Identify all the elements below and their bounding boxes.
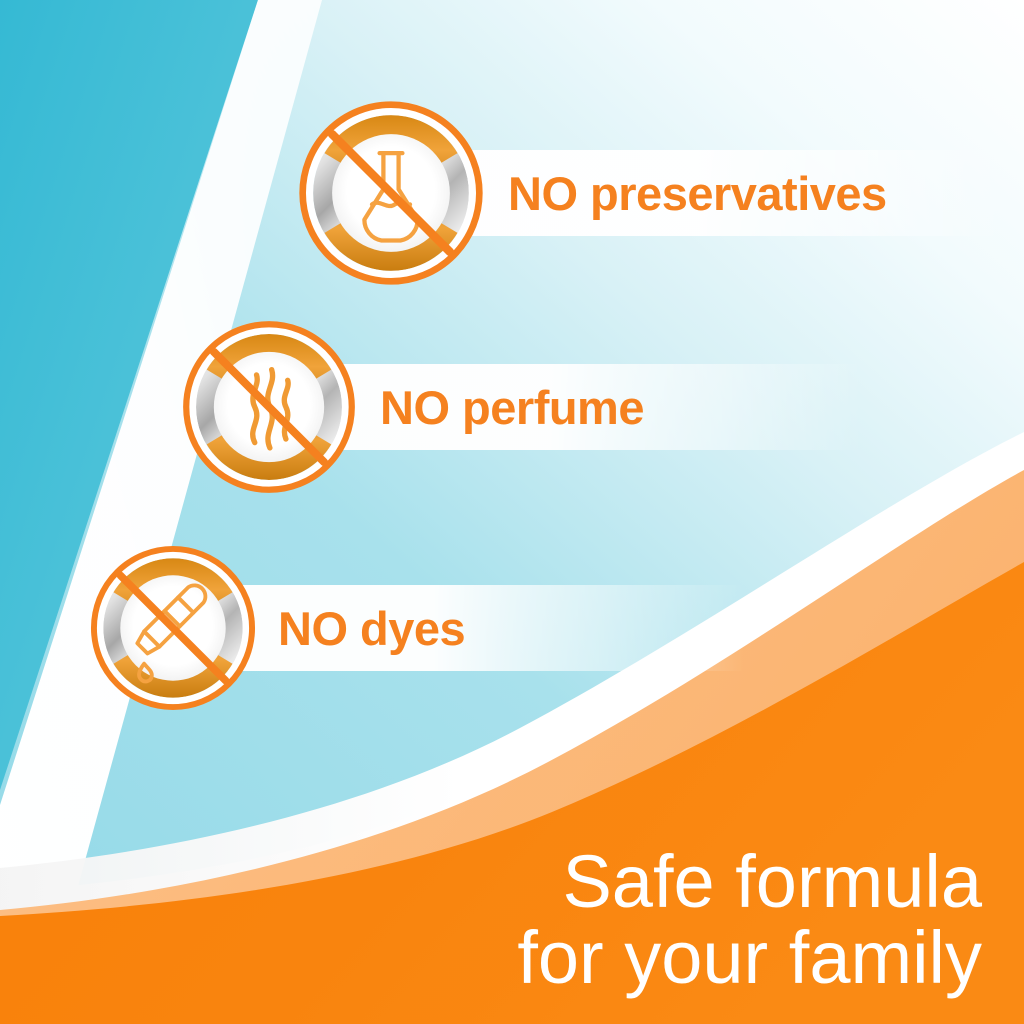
headline: Safe formula for your family (262, 844, 982, 996)
claim-label-preservatives: NO preservatives (508, 170, 887, 217)
claim-row-preservatives: NO preservatives (296, 98, 896, 288)
headline-line-1: Safe formula (262, 844, 982, 920)
no-flask-icon (296, 98, 486, 288)
no-dyes-icon (88, 543, 258, 713)
poster-canvas: NO preservatives (0, 0, 1024, 1024)
no-perfume-icon (180, 318, 358, 496)
claim-label-dyes: NO dyes (278, 605, 465, 652)
claim-row-dyes: NO dyes (88, 543, 688, 713)
claim-label-perfume: NO perfume (380, 384, 644, 431)
headline-line-2: for your family (262, 920, 982, 996)
claim-row-perfume: NO perfume (180, 318, 800, 496)
